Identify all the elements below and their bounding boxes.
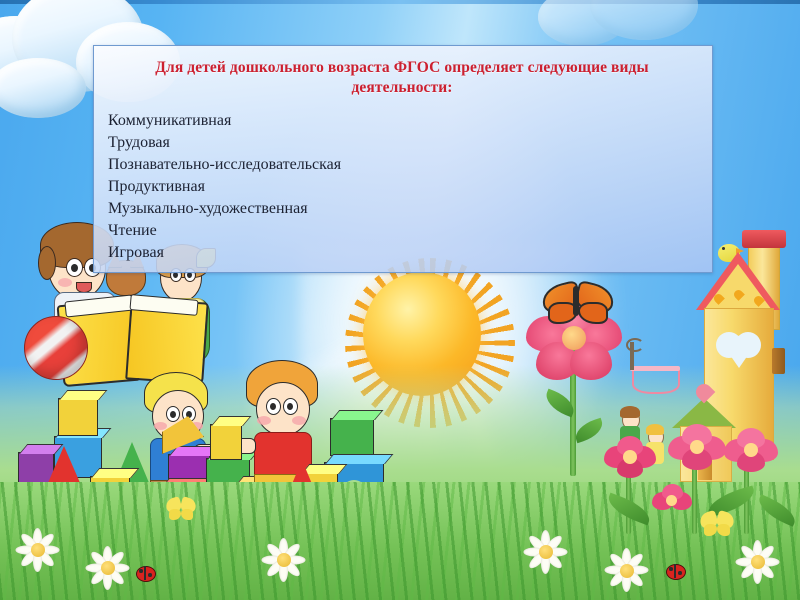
content-text-panel: Для детей дошкольного возраста ФГОС опре… — [93, 45, 713, 273]
ladybug-icon — [136, 566, 154, 580]
daisy-icon-6 — [736, 540, 780, 584]
yellow-butterfly-icon-2 — [166, 498, 196, 522]
list-item: Познавательно-исследовательская — [108, 154, 700, 176]
butterfly-icon — [542, 282, 610, 322]
daisy-icon-3 — [262, 538, 306, 582]
activity-types-list: Коммуникативная Трудовая Познавательно-и… — [104, 110, 700, 265]
slide-canvas: Для детей дошкольного возраста ФГОС опре… — [0, 0, 800, 600]
panel-title: Для детей дошкольного возраста ФГОС опре… — [126, 58, 678, 98]
daisy-icon-2 — [86, 546, 130, 590]
yellow-butterfly-icon — [700, 512, 734, 538]
list-item: Игровая — [108, 242, 700, 264]
list-item: Коммуникативная — [108, 110, 700, 132]
daisy-icon — [14, 528, 62, 576]
daisy-icon-4 — [524, 530, 568, 574]
flower-cluster-right — [596, 430, 800, 550]
list-item: Музыкально-художественная — [108, 198, 700, 220]
list-item: Чтение — [108, 220, 700, 242]
daisy-icon-5 — [604, 548, 650, 594]
cloud-icon-secondary — [538, 0, 708, 50]
list-item: Продуктивная — [108, 176, 700, 198]
list-item: Трудовая — [108, 132, 700, 154]
ladybug-icon-2 — [666, 564, 684, 578]
